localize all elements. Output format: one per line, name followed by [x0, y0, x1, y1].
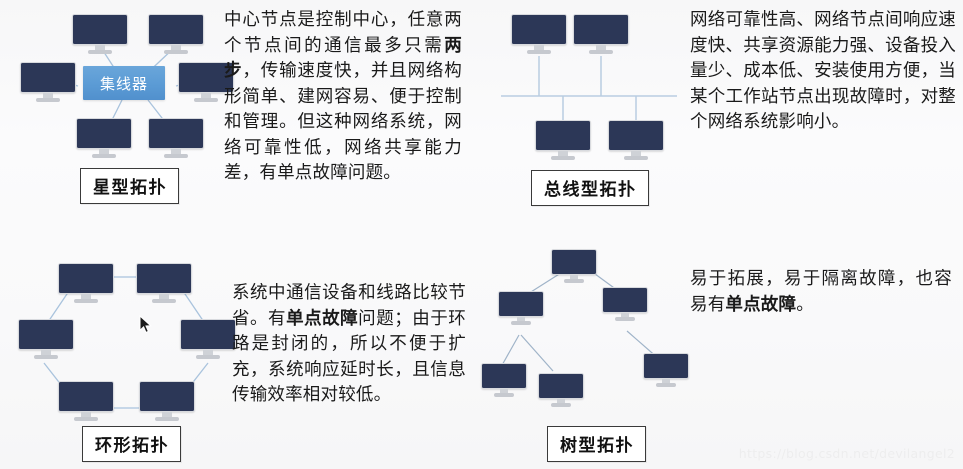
node-monitor	[535, 120, 591, 162]
monitor-base	[36, 98, 60, 102]
node-monitor	[18, 319, 74, 361]
monitor-base	[551, 156, 575, 160]
monitor-base	[164, 50, 188, 54]
topology-infographic: 集线器 星型拓扑 中心节点是控制中心，任意两个节点间的通信最多只需两步，传输速度…	[0, 0, 963, 469]
topology-label-bus: 总线型拓扑	[531, 170, 649, 206]
node-monitor	[148, 118, 204, 160]
monitor-base	[656, 383, 676, 387]
monitor-screen	[136, 263, 192, 294]
node-monitor	[139, 381, 195, 423]
monitor-base	[164, 154, 188, 158]
monitor-base	[564, 279, 584, 283]
topology-panel-ring: 环形拓扑 系统中通信设备和线路比较节省。有单点故障问题；由于环路是封闭的，所以不…	[0, 235, 481, 469]
monitor-screen	[535, 120, 591, 151]
monitor-base	[34, 355, 58, 359]
monitor-base	[92, 154, 116, 158]
node-monitor	[498, 291, 544, 326]
node-monitor	[58, 381, 114, 423]
mouse-cursor-icon	[139, 315, 152, 334]
node-monitor	[608, 120, 664, 162]
monitor-screen	[180, 319, 236, 350]
topology-panel-star: 集线器 星型拓扑 中心节点是控制中心，任意两个节点间的通信最多只需两步，传输速度…	[0, 0, 481, 235]
monitor-screen	[551, 249, 597, 275]
node-monitor	[136, 263, 192, 305]
monitor-base	[74, 417, 98, 421]
node-monitor	[573, 14, 629, 56]
watermark-text: https://blog.csdn.net/devilangel2	[739, 446, 955, 461]
monitor-base	[196, 355, 220, 359]
monitor-base	[194, 98, 218, 102]
topology-description-bus: 网络可靠性高、网络节点间响应速度快、共享资源能力强、设备投入量少、成本低、安装使…	[690, 8, 956, 136]
monitor-screen	[573, 14, 629, 45]
monitor-base	[624, 156, 648, 160]
topology-label-star: 星型拓扑	[80, 168, 179, 204]
monitor-screen	[643, 353, 689, 379]
monitor-base	[494, 393, 514, 397]
monitor-screen	[602, 287, 648, 313]
node-monitor	[551, 249, 597, 284]
monitor-base	[155, 417, 179, 421]
topology-panel-bus: 总线型拓扑 网络可靠性高、网络节点间响应速度快、共享资源能力强、设备投入量少、成…	[481, 0, 963, 235]
monitor-screen	[18, 319, 74, 350]
node-monitor	[76, 118, 132, 160]
node-monitor	[538, 373, 584, 408]
monitor-base	[589, 50, 613, 54]
topology-label-tree: 树型拓扑	[547, 426, 646, 462]
node-monitor	[481, 363, 527, 398]
topology-panel-tree: 树型拓扑 易于拓展，易于隔离故障，也容易有单点故障。	[481, 235, 963, 469]
node-monitor	[180, 319, 236, 361]
monitor-screen	[608, 120, 664, 151]
node-monitor	[602, 287, 648, 322]
monitor-screen	[498, 291, 544, 317]
node-monitor	[58, 263, 114, 305]
topology-description-tree: 易于拓展，易于隔离故障，也容易有单点故障。	[690, 267, 952, 318]
monitor-screen	[72, 14, 128, 45]
monitor-screen	[538, 373, 584, 399]
topology-description-star: 中心节点是控制中心，任意两个节点间的通信最多只需两步，传输速度快，并且网络构形简…	[224, 8, 462, 187]
monitor-screen	[481, 363, 527, 389]
node-monitor	[72, 14, 128, 56]
node-monitor	[148, 14, 204, 56]
monitor-screen	[58, 381, 114, 412]
monitor-screen	[139, 381, 195, 412]
monitor-screen	[58, 263, 114, 294]
monitor-base	[527, 50, 551, 54]
monitor-screen	[76, 118, 132, 149]
monitor-screen	[148, 118, 204, 149]
monitor-base	[511, 321, 531, 325]
monitor-base	[551, 403, 571, 407]
hub-label: 集线器	[100, 73, 148, 94]
monitor-screen	[511, 14, 567, 45]
monitor-screen	[20, 62, 76, 93]
monitor-base	[615, 317, 635, 321]
monitor-base	[88, 50, 112, 54]
topology-label-ring: 环形拓扑	[82, 426, 181, 462]
monitor-base	[152, 299, 176, 303]
monitor-base	[74, 299, 98, 303]
hub-box: 集线器	[83, 66, 165, 100]
node-monitor	[511, 14, 567, 56]
monitor-screen	[148, 14, 204, 45]
topology-description-ring: 系统中通信设备和线路比较节省。有单点故障问题；由于环路是封闭的，所以不便于扩充，…	[232, 281, 466, 409]
node-monitor	[643, 353, 689, 388]
node-monitor	[20, 62, 76, 104]
